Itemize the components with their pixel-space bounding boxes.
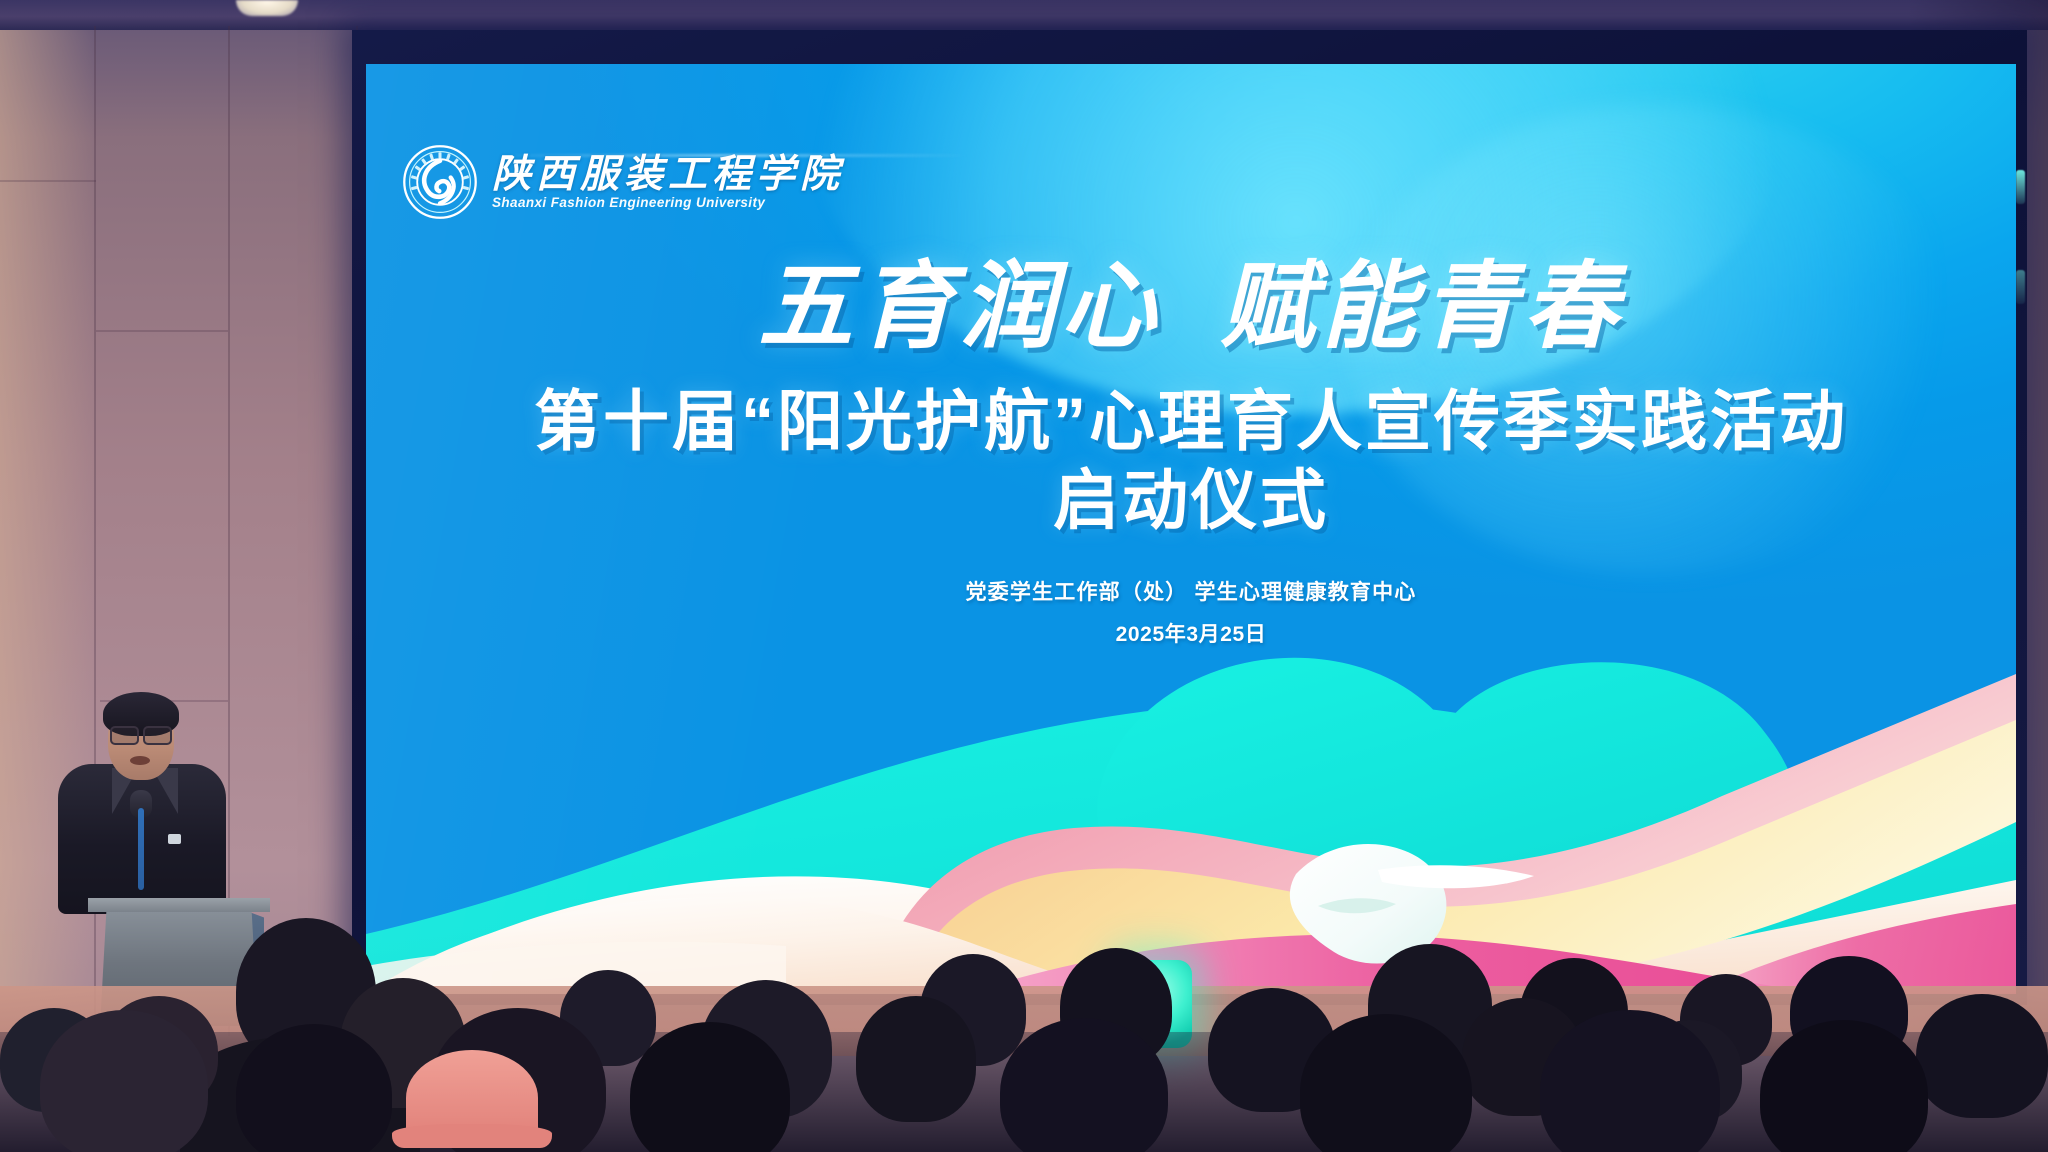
university-logo: 陕西服装工程学院 Shaanxi Fashion Engineering Uni… — [402, 144, 844, 220]
speaker-glasses-icon — [110, 726, 172, 741]
audience-head — [856, 996, 976, 1122]
slide-headline: 五育润心赋能青春 — [366, 260, 2016, 355]
headline-part1: 五育润心 — [758, 254, 1162, 360]
lectern-top — [88, 898, 270, 912]
glasses-lens-left — [110, 726, 139, 745]
glasses-lens-right — [143, 726, 172, 745]
wall-joint-line — [96, 330, 228, 332]
slide-subtitle: 第十届“阳光护航”心理育人宣传季实践活动 启动仪式 — [366, 382, 2016, 539]
logo-name-en: Shaanxi Fashion Engineering University — [492, 196, 844, 210]
ceiling — [0, 0, 2048, 30]
ceiling-downlight-icon — [236, 0, 298, 16]
audience-head — [1916, 994, 2048, 1118]
subtitle-line-2: 启动仪式 — [366, 461, 2016, 540]
bezel-glint — [2016, 170, 2025, 204]
led-screen: 陕西服装工程学院 Shaanxi Fashion Engineering Uni… — [366, 64, 2016, 994]
audience — [0, 922, 2048, 1152]
bezel-glint — [2016, 270, 2025, 304]
logo-name-cn: 陕西服装工程学院 — [492, 155, 844, 194]
subtitle-line-1: 第十届“阳光护航”心理育人宣传季实践活动 — [366, 382, 2016, 461]
audience-cap-brim — [392, 1124, 552, 1148]
university-seal-icon — [402, 144, 478, 220]
speaker-lapel-badge — [168, 834, 181, 844]
wall-joint-line — [0, 180, 96, 182]
audience-head — [40, 1010, 208, 1152]
headline-part2: 赋能青春 — [1220, 254, 1624, 360]
microphone-stem — [138, 808, 144, 890]
speaker-mouth — [130, 756, 150, 765]
photo-scene: 陕西服装工程学院 Shaanxi Fashion Engineering Uni… — [0, 0, 2048, 1152]
projection-screen-bezel: 陕西服装工程学院 Shaanxi Fashion Engineering Uni… — [352, 30, 2027, 1005]
